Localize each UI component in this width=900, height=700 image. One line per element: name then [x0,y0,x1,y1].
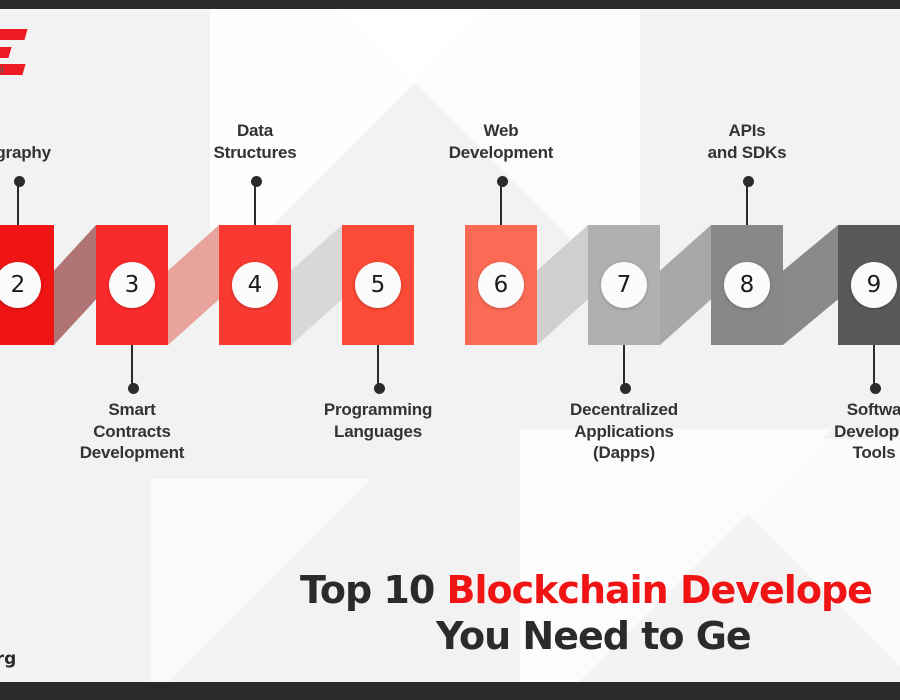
timeline-step-8[interactable]: 8 [711,225,783,345]
step-number-badge: 4 [232,262,278,308]
connector-shape [537,225,588,345]
logo-bar-top [0,29,28,40]
step-leader-line [254,181,256,225]
timeline-connector [414,225,465,345]
headline-line2: You Need to Ge [300,613,900,659]
timeline-step-3[interactable]: 3 [96,225,168,345]
timeline-step-9[interactable]: 9 [838,225,900,345]
connector-shape [660,225,711,345]
timeline-step-5[interactable]: 5 [342,225,414,345]
brand-logo [0,23,56,79]
step-number-badge: 8 [724,262,770,308]
brand-logo-text: uncil [0,65,4,75]
timeline-connector [537,225,588,345]
timeline-step-4[interactable]: 4 [219,225,291,345]
website-url: org [0,649,16,669]
step-leader-line [746,181,748,225]
step-caption: Softwa Developm Tools [744,399,900,464]
timeline-step-6[interactable]: 6 [465,225,537,345]
timeline-connector [291,225,342,345]
step-number-badge: 6 [478,262,524,308]
connector-shape [291,225,342,345]
step-leader-dot [251,176,262,187]
poster-body: uncil 2ography3Smart Contracts Developme… [0,9,900,682]
letterbox-top [0,0,900,9]
step-caption: Programming Languages [248,399,508,442]
timeline-track: 2ography3Smart Contracts Development4Dat… [0,225,900,355]
step-caption: Data Structures [125,120,385,163]
step-caption: Smart Contracts Development [2,399,262,464]
connector-shape [168,225,219,345]
timeline-step-2[interactable]: 2 [0,225,54,345]
step-leader-dot [14,176,25,187]
letterbox-bottom [0,682,900,700]
headline: Top 10 Blockchain Develope You Need to G… [300,567,900,660]
step-caption: APIs and SDKs [617,120,877,163]
step-leader-dot [497,176,508,187]
infographic-canvas: uncil 2ography3Smart Contracts Developme… [0,0,900,700]
timeline-connector [54,225,96,345]
headline-line1-dark: Top 10 [300,568,447,612]
step-number-badge: 3 [109,262,155,308]
step-leader-dot [870,383,881,394]
headline-line1-red: Blockchain Develope [447,568,872,612]
step-leader-line [17,181,19,225]
timeline-connector [168,225,219,345]
logo-bar-middle [0,47,12,58]
connector-shape [414,225,465,345]
timeline-connector [783,225,838,345]
timeline-step-7[interactable]: 7 [588,225,660,345]
step-leader-line [500,181,502,225]
step-leader-dot [128,383,139,394]
timeline-connector [660,225,711,345]
step-caption: Web Development [371,120,631,163]
step-leader-dot [620,383,631,394]
step-leader-dot [374,383,385,394]
connector-shape [783,225,838,345]
step-number-badge: 5 [355,262,401,308]
connector-shape [54,225,96,345]
step-number-badge: 9 [851,262,897,308]
step-caption: Decentralized Applications (Dapps) [494,399,754,464]
step-leader-dot [743,176,754,187]
step-number-badge: 7 [601,262,647,308]
